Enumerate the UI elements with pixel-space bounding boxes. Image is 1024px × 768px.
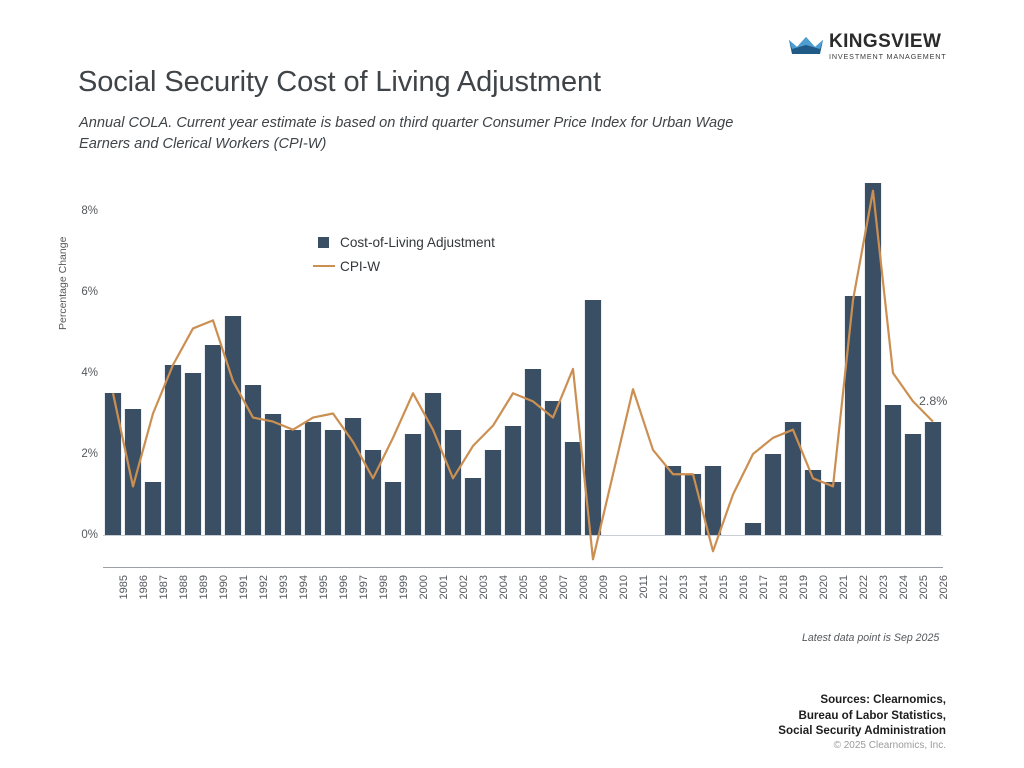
- series-end-value-label: 2.8%: [919, 394, 947, 408]
- line-swatch-icon: [313, 265, 335, 268]
- x-axis-tick-label: 2003: [478, 551, 490, 575]
- x-axis-tick-label: 2020: [818, 551, 830, 575]
- copyright-note: © 2025 Clearnomics, Inc.: [834, 740, 946, 751]
- x-axis-tick-label: 1987: [158, 551, 170, 575]
- x-axis-tick-label: 2008: [578, 551, 590, 575]
- x-axis-tick-label: 1994: [298, 551, 310, 575]
- x-axis-tick-label: 2006: [538, 551, 550, 575]
- x-axis-tick-label: 2010: [618, 551, 630, 575]
- x-axis-tick-label: 2022: [858, 551, 870, 575]
- sources-line: Social Security Administration: [778, 723, 946, 739]
- legend-label-cpiw: CPI-W: [340, 259, 380, 274]
- x-axis-tick-label: 2000: [418, 551, 430, 575]
- x-axis-tick-label: 1990: [218, 551, 230, 575]
- x-axis-tick-label: 2021: [838, 551, 850, 575]
- square-swatch-icon: [318, 237, 329, 248]
- x-axis-tick-label: 2025: [918, 551, 930, 575]
- x-axis-tick-label: 1999: [398, 551, 410, 575]
- x-axis-ticks: 1985198619871988198919901991199219931994…: [0, 0, 1024, 768]
- sources-line: Sources: Clearnomics,: [778, 692, 946, 708]
- x-axis-tick-label: 1998: [378, 551, 390, 575]
- x-axis-tick-label: 1986: [138, 551, 150, 575]
- x-axis-tick-label: 1988: [178, 551, 190, 575]
- x-axis-tick-label: 1992: [258, 551, 270, 575]
- legend-item-cola[interactable]: Cost-of-Living Adjustment: [318, 230, 495, 254]
- x-axis-tick-label: 2013: [678, 551, 690, 575]
- legend-item-cpiw[interactable]: CPI-W: [318, 254, 495, 278]
- x-axis-tick-label: 1997: [358, 551, 370, 575]
- latest-data-point-note: Latest data point is Sep 2025: [802, 632, 939, 644]
- x-axis-tick-label: 2011: [638, 551, 650, 575]
- sources-line: Bureau of Labor Statistics,: [778, 708, 946, 724]
- x-axis-tick-label: 2023: [878, 551, 890, 575]
- x-axis-tick-label: 2026: [938, 551, 950, 575]
- x-axis-tick-label: 2016: [738, 551, 750, 575]
- legend-label-cola: Cost-of-Living Adjustment: [340, 235, 495, 250]
- x-axis-tick-label: 1989: [198, 551, 210, 575]
- x-axis-tick-label: 2005: [518, 551, 530, 575]
- x-axis-tick-label: 2017: [758, 551, 770, 575]
- x-axis-tick-label: 2004: [498, 551, 510, 575]
- x-axis-tick-label: 2024: [898, 551, 910, 575]
- x-axis-tick-label: 1991: [238, 551, 250, 575]
- x-axis-tick-label: 2007: [558, 551, 570, 575]
- sources-block: Sources: Clearnomics,Bureau of Labor Sta…: [778, 692, 946, 739]
- x-axis-tick-label: 2014: [698, 551, 710, 575]
- x-axis-tick-label: 1995: [318, 551, 330, 575]
- chart-page: KINGSVIEW INVESTMENT MANAGEMENT Social S…: [0, 0, 1024, 768]
- x-axis-tick-label: 2001: [438, 551, 450, 575]
- x-axis-tick-label: 2019: [798, 551, 810, 575]
- x-axis-tick-label: 1985: [118, 551, 130, 575]
- x-axis-tick-label: 2002: [458, 551, 470, 575]
- x-axis-tick-label: 1996: [338, 551, 350, 575]
- x-axis-tick-label: 1993: [278, 551, 290, 575]
- x-axis-tick-label: 2018: [778, 551, 790, 575]
- chart-plot-area: Percentage Change 0%2%4%6%8% 19851986198…: [0, 0, 1024, 768]
- x-axis-tick-label: 2009: [598, 551, 610, 575]
- x-axis-tick-label: 2012: [658, 551, 670, 575]
- x-axis-tick-label: 2015: [718, 551, 730, 575]
- chart-legend: Cost-of-Living Adjustment CPI-W: [318, 230, 495, 278]
